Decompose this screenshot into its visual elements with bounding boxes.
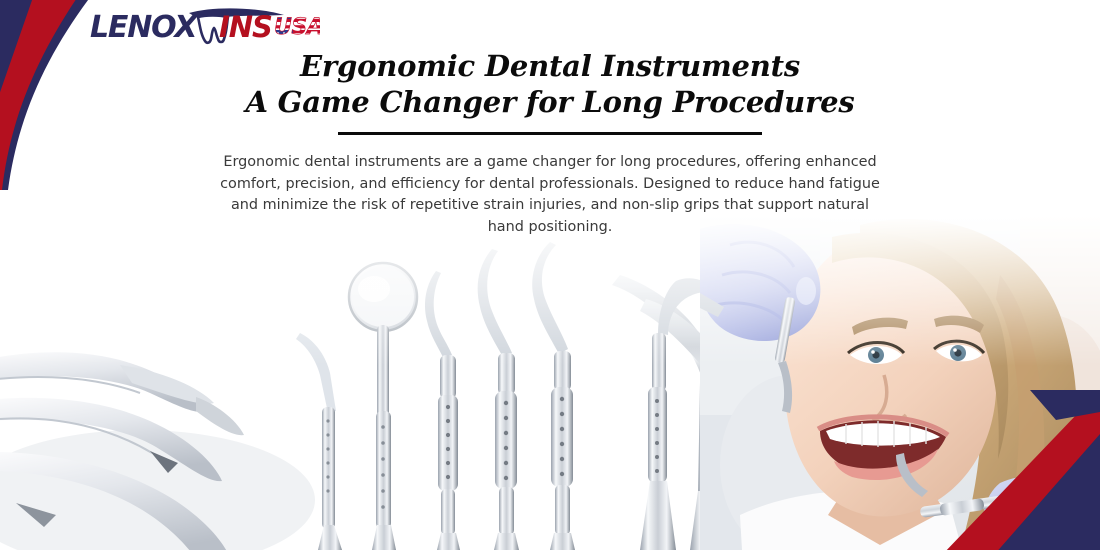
intro-paragraph: Ergonomic dental instruments are a game … (214, 152, 886, 238)
promo-banner: LENOX INS USA Ergonomic Dental Instrumen… (0, 0, 1100, 550)
title-divider (338, 132, 762, 135)
page-title: Ergonomic Dental Instruments A Game Chan… (0, 48, 1100, 120)
logo-text-lenox: LENOX (90, 10, 199, 45)
headline-block: Ergonomic Dental Instruments A Game Chan… (0, 48, 1100, 135)
brand-logo[interactable]: LENOX INS USA (88, 6, 320, 46)
hero-imagery (0, 215, 1100, 550)
logo-text-usa: USA (274, 15, 320, 40)
headline-line-1: Ergonomic Dental Instruments (300, 49, 800, 83)
headline-line-2: A Game Changer for Long Procedures (0, 84, 1100, 120)
logo-text-ins: INS (219, 10, 272, 44)
